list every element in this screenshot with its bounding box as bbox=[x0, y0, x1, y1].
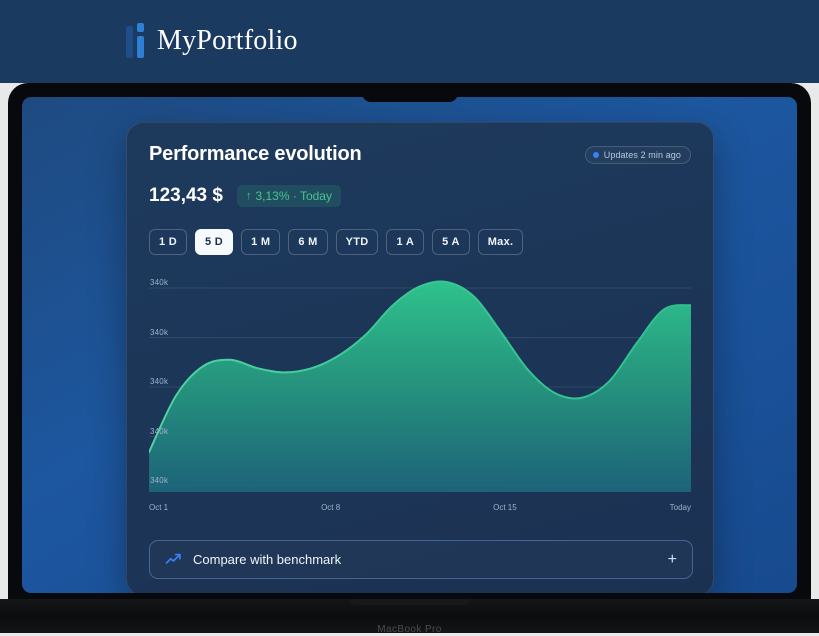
laptop-lid: Performance evolution Updates 2 min ago … bbox=[8, 83, 811, 605]
page-title: Performance evolution bbox=[149, 143, 362, 166]
brand-logo[interactable]: MyPortfolio bbox=[126, 19, 298, 63]
change-badge: ↑ 3,13% · Today bbox=[237, 185, 341, 207]
x-axis-tick: Oct 15 bbox=[493, 503, 517, 512]
range-button-5a[interactable]: 5 A bbox=[432, 229, 470, 255]
brand-name: MyPortfolio bbox=[157, 25, 298, 57]
performance-chart[interactable]: 340k340k340k340k340k Oct 1Oct 8Oct 15Tod… bbox=[149, 274, 691, 512]
arrow-up-icon: ↑ bbox=[246, 191, 252, 202]
range-button-ytd[interactable]: YTD bbox=[336, 229, 379, 255]
y-axis-tick: 340k bbox=[150, 476, 168, 485]
laptop-base-notch bbox=[350, 599, 470, 605]
plus-icon[interactable]: + bbox=[668, 552, 677, 568]
performance-card: Performance evolution Updates 2 min ago … bbox=[126, 122, 714, 593]
y-axis-tick: 340k bbox=[150, 377, 168, 386]
chart-area-fill bbox=[149, 281, 691, 492]
range-button-1d[interactable]: 1 D bbox=[149, 229, 187, 255]
x-axis-tick: Oct 8 bbox=[321, 503, 340, 512]
status-badge: Updates 2 min ago bbox=[585, 146, 691, 164]
range-button-1a[interactable]: 1 A bbox=[386, 229, 424, 255]
change-label: 3,13% · Today bbox=[255, 189, 332, 203]
y-axis-tick: 340k bbox=[150, 328, 168, 337]
y-axis-tick: 340k bbox=[150, 427, 168, 436]
camera-notch bbox=[362, 83, 458, 102]
x-axis-tick: Today bbox=[670, 503, 691, 512]
status-badge-label: Updates 2 min ago bbox=[604, 150, 681, 160]
range-button-max[interactable]: Max. bbox=[478, 229, 524, 255]
area-chart-svg bbox=[149, 274, 691, 492]
price-row: 123,43 $ ↑ 3,13% · Today bbox=[149, 185, 691, 207]
portfolio-value: 123,43 $ bbox=[149, 185, 223, 207]
compare-benchmark-label: Compare with benchmark bbox=[193, 552, 668, 567]
range-button-6m[interactable]: 6 M bbox=[288, 229, 327, 255]
compare-benchmark-button[interactable]: Compare with benchmark + bbox=[149, 540, 693, 579]
range-button-1m[interactable]: 1 M bbox=[241, 229, 280, 255]
y-axis-tick: 340k bbox=[150, 278, 168, 287]
trending-up-icon bbox=[165, 551, 182, 568]
x-axis-tick: Oct 1 bbox=[149, 503, 168, 512]
laptop-base: MacBook Pro bbox=[0, 599, 819, 633]
range-selector[interactable]: 1 D5 D1 M6 MYTD1 A5 AMax. bbox=[149, 229, 691, 255]
device-model-label: MacBook Pro bbox=[0, 624, 819, 635]
range-button-5d[interactable]: 5 D bbox=[195, 229, 233, 255]
macbook-mockup: Performance evolution Updates 2 min ago … bbox=[8, 83, 811, 636]
card-header: Performance evolution Updates 2 min ago bbox=[149, 143, 691, 166]
chart-x-axis: Oct 1Oct 8Oct 15Today bbox=[149, 503, 691, 512]
laptop-screen: Performance evolution Updates 2 min ago … bbox=[22, 97, 797, 593]
site-header: MyPortfolio bbox=[0, 0, 819, 83]
status-dot-icon bbox=[593, 152, 599, 158]
bars-logo-icon bbox=[126, 23, 148, 59]
